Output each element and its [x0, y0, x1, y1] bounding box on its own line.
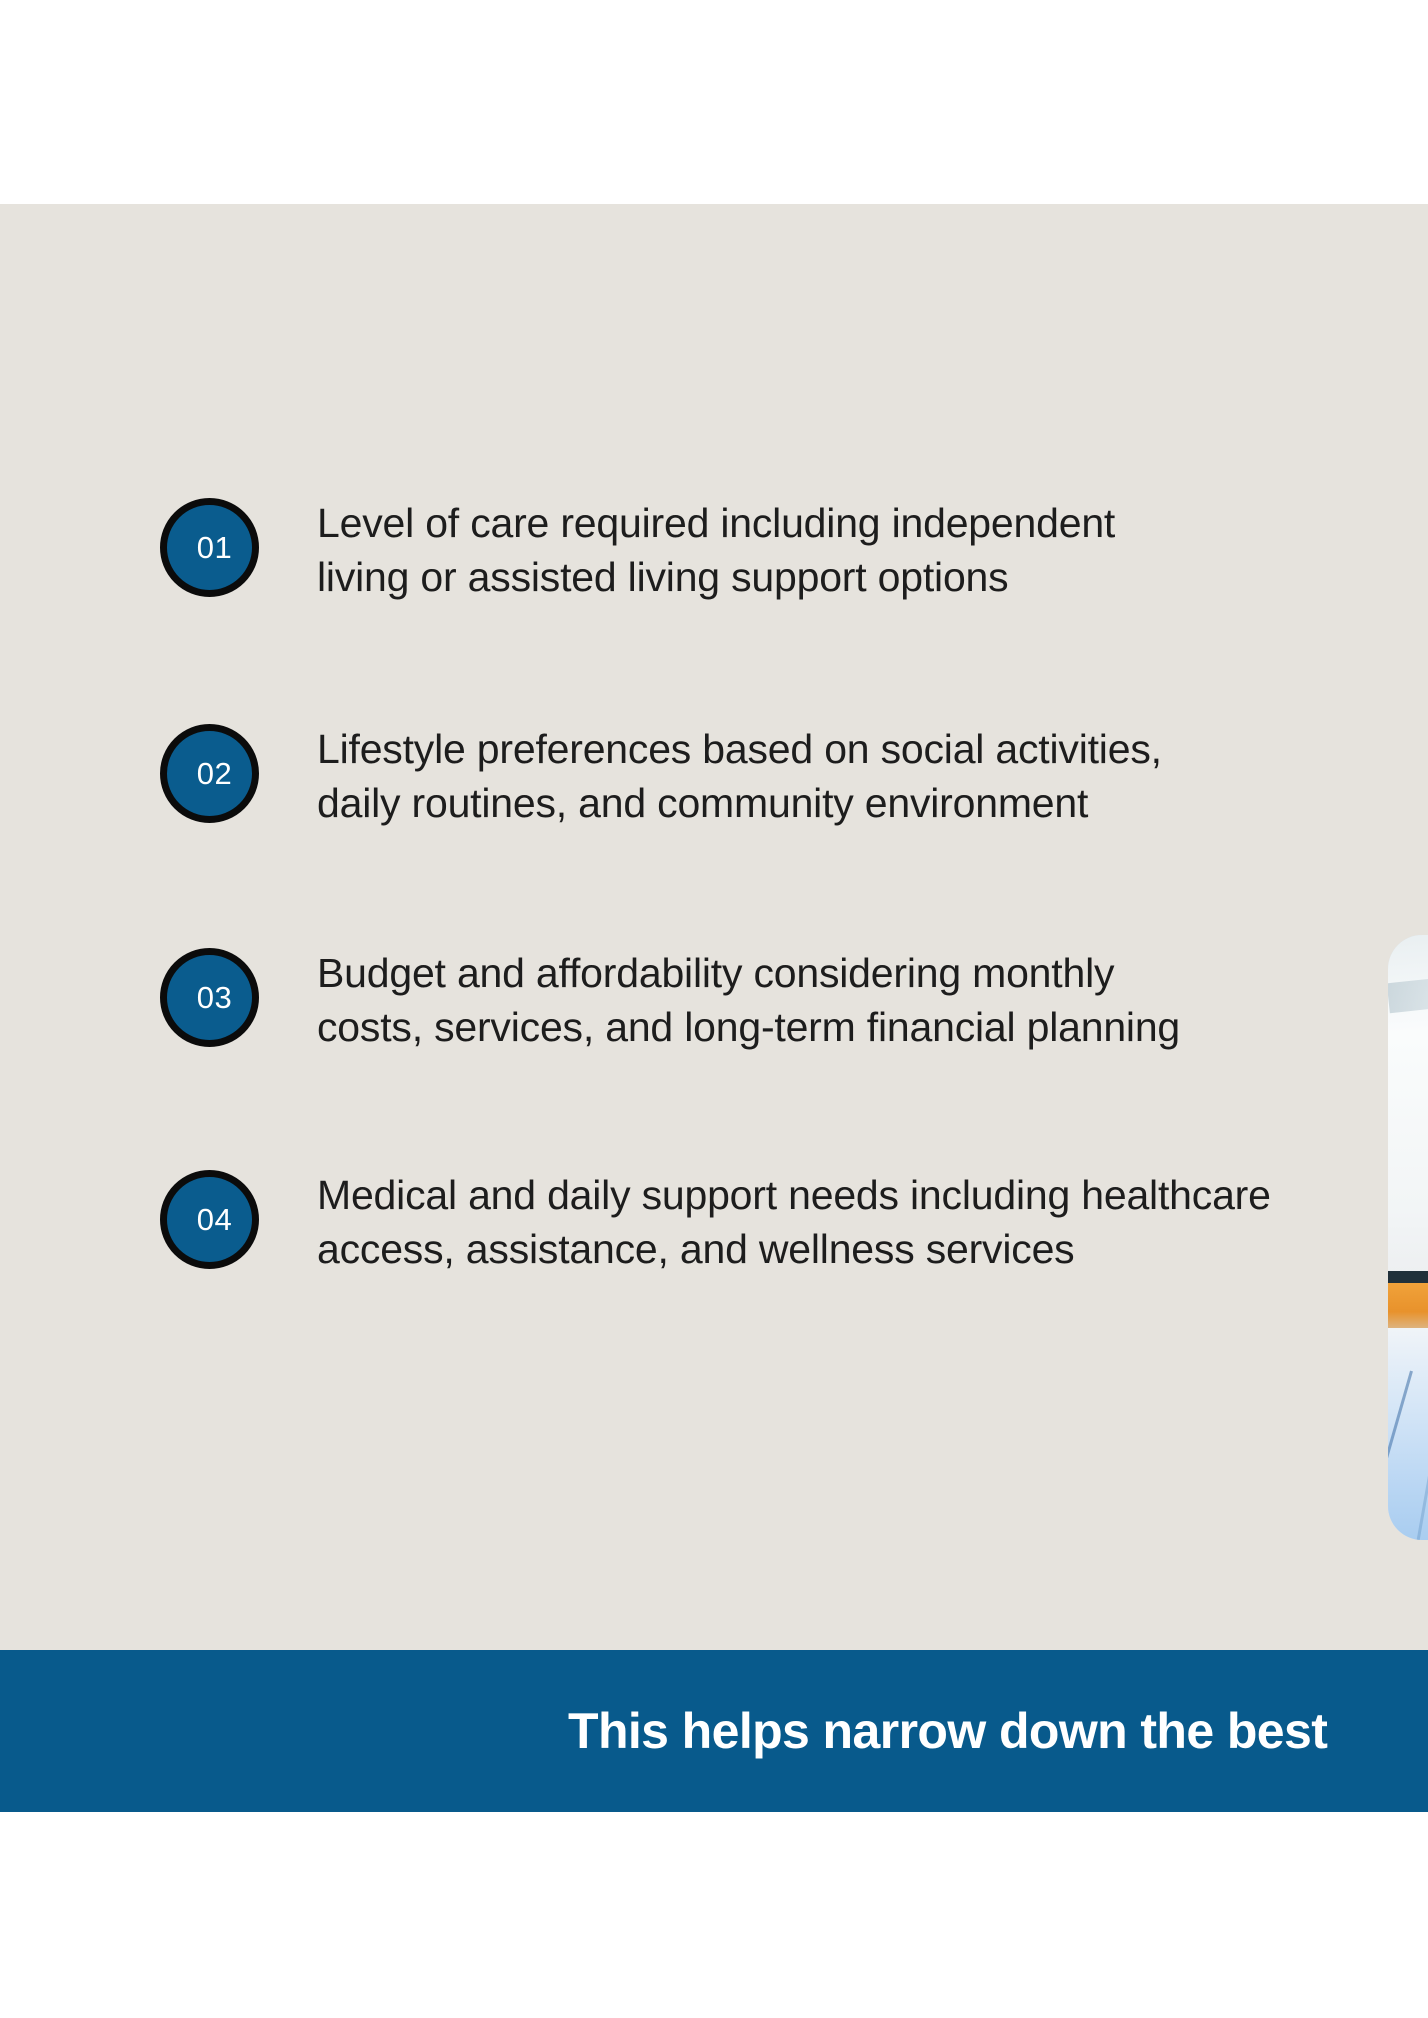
list-item: 03 Budget and affordability considering … — [0, 944, 1428, 1144]
step-badge-03: 03 — [160, 948, 259, 1047]
step-number: 03 — [187, 982, 232, 1013]
list-item-text: Budget and affordability considering mon… — [317, 944, 1428, 1054]
footer-banner: This helps narrow down the best — [0, 1650, 1428, 1812]
interior-hallway-photo — [1388, 935, 1428, 1540]
step-number: 02 — [187, 758, 232, 789]
content-panel: 01 Level of care required including inde… — [0, 204, 1428, 1650]
step-number: 01 — [187, 532, 232, 563]
step-number: 04 — [187, 1204, 232, 1235]
list-item: 01 Level of care required including inde… — [0, 494, 1428, 694]
list-item: 04 Medical and daily support needs inclu… — [0, 1166, 1428, 1366]
step-badge-04: 04 — [160, 1170, 259, 1269]
photo-wall-region — [1388, 1032, 1428, 1286]
photo-amber-band — [1388, 1283, 1428, 1331]
page-root: 01 Level of care required including inde… — [0, 0, 1428, 2018]
step-badge-02: 02 — [160, 724, 259, 823]
list-item-text: Medical and daily support needs includin… — [317, 1166, 1428, 1276]
list-item: 02 Lifestyle preferences based on social… — [0, 720, 1428, 920]
footer-headline: This helps narrow down the best — [568, 1702, 1327, 1760]
list-item-text: Lifestyle preferences based on social ac… — [317, 720, 1428, 830]
list-item-text: Level of care required including indepen… — [317, 494, 1428, 604]
step-badge-01: 01 — [160, 498, 259, 597]
